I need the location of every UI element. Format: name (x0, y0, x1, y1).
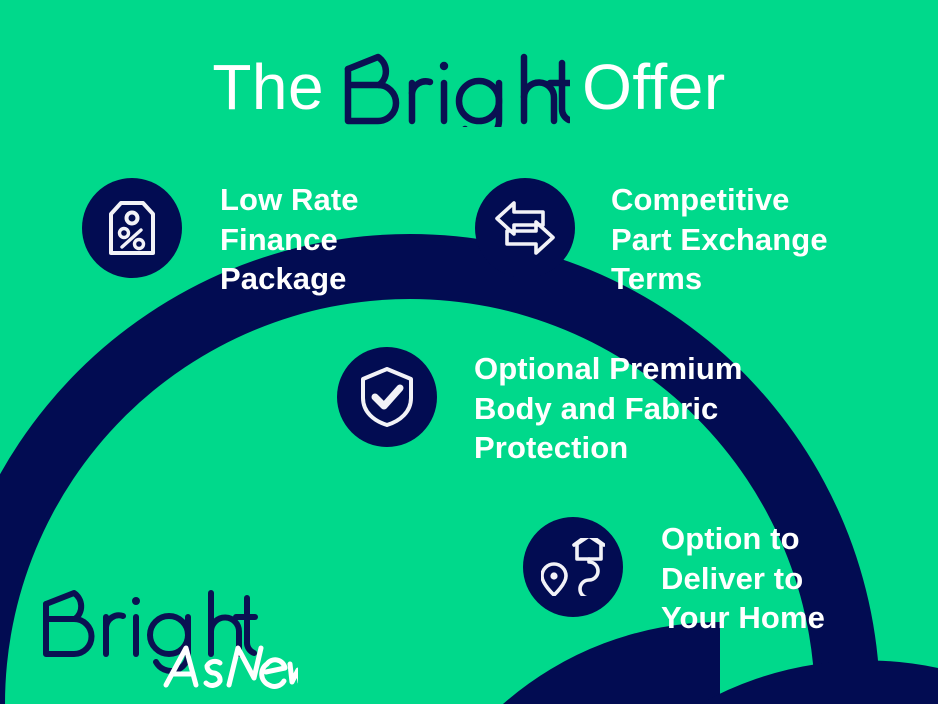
bright-wordmark-title (338, 49, 570, 131)
feature-icon-badge (523, 517, 623, 617)
bottom-right-sliver-shape (700, 660, 938, 704)
exchange-arrows-icon (494, 199, 556, 257)
feature-icon-badge (82, 178, 182, 278)
feature-line: Option to (661, 519, 825, 559)
feature-line: Competitive (611, 180, 828, 220)
feature-icon-badge (337, 347, 437, 447)
feature-label: Option to Deliver to Your Home (661, 517, 825, 638)
shield-check-icon (359, 366, 415, 428)
feature-line: Deliver to (661, 559, 825, 599)
feature-label: Optional Premium Body and Fabric Protect… (474, 347, 743, 468)
feature-icon-badge (475, 178, 575, 278)
feature-item-part-exchange: Competitive Part Exchange Terms (475, 178, 828, 299)
brand-logo-primary-wordmark (46, 593, 255, 671)
bright-offer-promo-card: The (0, 0, 938, 704)
feature-line: Protection (474, 428, 743, 468)
feature-line: Low Rate (220, 180, 359, 220)
brand-logo-bright-as-new (38, 586, 298, 686)
feature-line: Body and Fabric (474, 389, 743, 429)
price-tag-percent-icon (105, 199, 159, 257)
feature-line: Part Exchange (611, 220, 828, 260)
feature-line: Your Home (661, 598, 825, 638)
feature-item-home-delivery: Option to Deliver to Your Home (523, 517, 825, 638)
feature-item-low-rate-finance: Low Rate Finance Package (82, 178, 359, 299)
feature-line: Terms (611, 259, 828, 299)
feature-label: Competitive Part Exchange Terms (611, 178, 828, 299)
feature-line: Finance (220, 220, 359, 260)
feature-label: Low Rate Finance Package (220, 178, 359, 299)
headline-after: Offer (582, 55, 726, 119)
headline-before: The (212, 55, 324, 119)
feature-line: Optional Premium (474, 349, 743, 389)
feature-line: Package (220, 259, 359, 299)
delivery-route-home-icon (541, 538, 605, 596)
feature-item-body-fabric-protection: Optional Premium Body and Fabric Protect… (337, 347, 743, 468)
headline: The (0, 46, 938, 128)
